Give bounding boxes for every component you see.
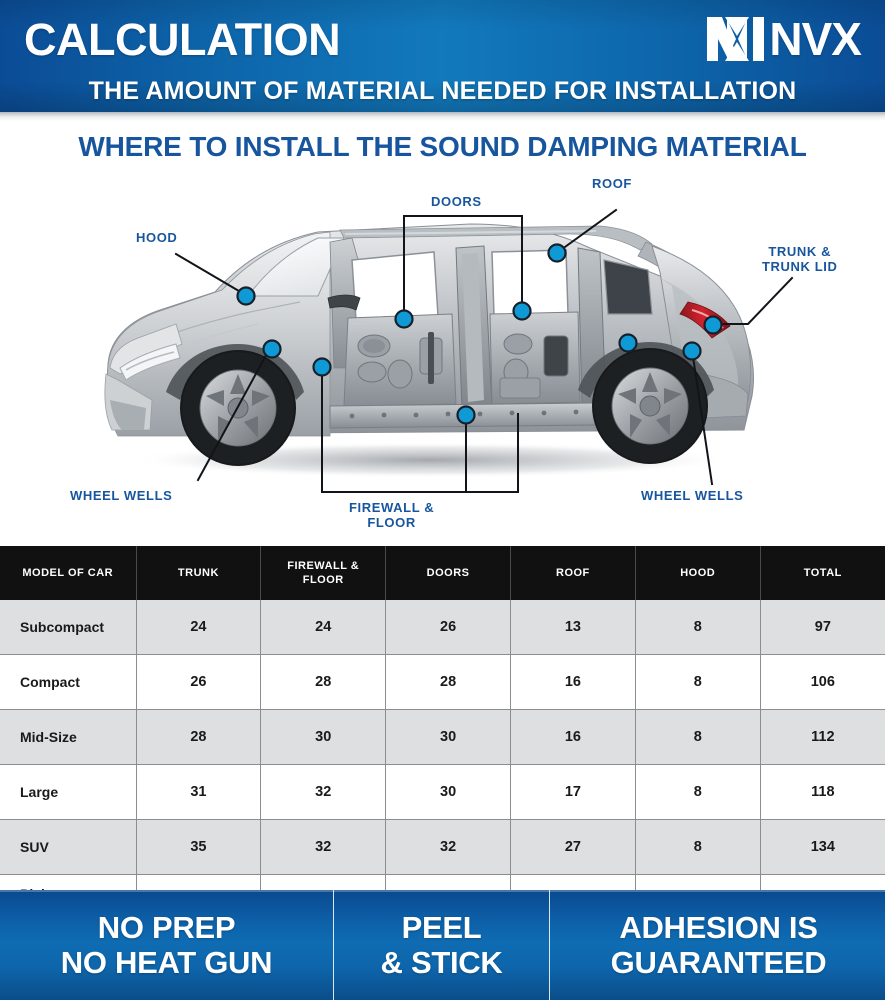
cell-model: Large bbox=[0, 765, 136, 820]
diagram-label-hood: HOOD bbox=[136, 230, 177, 245]
section-heading: WHERE TO INSTALL THE SOUND DAMPING MATER… bbox=[0, 132, 885, 162]
cell-hood: 8 bbox=[635, 820, 760, 875]
diagram-label-doors: DOORS bbox=[431, 194, 482, 209]
diagram-label-trunk-line1: TRUNK & bbox=[762, 244, 837, 259]
diagram-label-firewall-line1: FIREWALL & bbox=[349, 500, 434, 515]
table-row: SUV 35 32 32 27 8 134 bbox=[0, 820, 885, 875]
cell-hood: 8 bbox=[635, 655, 760, 710]
cell-total: 97 bbox=[760, 600, 885, 655]
footer-peel-line2: & STICK bbox=[381, 945, 503, 980]
cell-doors: 30 bbox=[386, 710, 511, 765]
cell-model: Compact bbox=[0, 655, 136, 710]
diagram-label-trunk: TRUNK & TRUNK LID bbox=[762, 244, 837, 274]
cell-doors: 28 bbox=[386, 655, 511, 710]
diagram-label-wheel-wells-rear: WHEEL WELLS bbox=[641, 488, 743, 503]
table-row: Compact 26 28 28 16 8 106 bbox=[0, 655, 885, 710]
cell-doors: 30 bbox=[386, 765, 511, 820]
th-firewall-line1: FIREWALL & bbox=[263, 559, 383, 573]
vehicle-illustration bbox=[0, 168, 885, 543]
footer-top-divider bbox=[0, 890, 885, 892]
calculation-table: MODEL OF CAR TRUNK FIREWALL & FLOOR DOOR… bbox=[0, 546, 885, 929]
footer-panel-adhesion: ADHESION IS GUARANTEED bbox=[550, 890, 885, 1000]
brand-logo: NVX bbox=[705, 13, 861, 65]
th-total: TOTAL bbox=[760, 546, 885, 600]
diagram-label-roof: ROOF bbox=[592, 176, 632, 191]
cell-firewall-floor: 30 bbox=[261, 710, 386, 765]
footer-benefits: NO PREP NO HEAT GUN PEEL & STICK ADHESIO… bbox=[0, 890, 885, 1000]
cell-doors: 26 bbox=[386, 600, 511, 655]
th-hood: HOOD bbox=[635, 546, 760, 600]
footer-panel-peel-stick: PEEL & STICK bbox=[334, 890, 549, 1000]
cell-roof: 16 bbox=[510, 710, 635, 765]
cell-firewall-floor: 32 bbox=[261, 820, 386, 875]
header-banner: CALCULATION NVX THE AMOUNT OF MATERIAL N… bbox=[0, 0, 885, 112]
cell-trunk: 26 bbox=[136, 655, 261, 710]
th-firewall-line2: FLOOR bbox=[263, 573, 383, 587]
diagram-label-trunk-line2: TRUNK LID bbox=[762, 259, 837, 274]
cell-roof: 17 bbox=[510, 765, 635, 820]
footer-no-prep-line2: NO HEAT GUN bbox=[61, 945, 272, 980]
cell-doors: 32 bbox=[386, 820, 511, 875]
table-row: Mid-Size 28 30 30 16 8 112 bbox=[0, 710, 885, 765]
cell-total: 106 bbox=[760, 655, 885, 710]
footer-peel-line1: PEEL bbox=[381, 910, 503, 945]
th-firewall-floor: FIREWALL & FLOOR bbox=[261, 546, 386, 600]
cell-model: Subcompact bbox=[0, 600, 136, 655]
table-row: Large 31 32 30 17 8 118 bbox=[0, 765, 885, 820]
cell-trunk: 24 bbox=[136, 600, 261, 655]
cell-hood: 8 bbox=[635, 600, 760, 655]
cell-roof: 27 bbox=[510, 820, 635, 875]
diagram-label-firewall-line2: FLOOR bbox=[349, 515, 434, 530]
header-shadow bbox=[0, 112, 885, 121]
th-roof: ROOF bbox=[510, 546, 635, 600]
table-header-row: MODEL OF CAR TRUNK FIREWALL & FLOOR DOOR… bbox=[0, 546, 885, 600]
rear-wheel bbox=[592, 348, 708, 464]
diagram-label-firewall-floor: FIREWALL & FLOOR bbox=[349, 500, 434, 530]
cell-hood: 8 bbox=[635, 710, 760, 765]
th-doors: DOORS bbox=[386, 546, 511, 600]
diagram-label-wheel-wells-front: WHEEL WELLS bbox=[70, 488, 172, 503]
cell-trunk: 28 bbox=[136, 710, 261, 765]
brand-logo-text: NVX bbox=[769, 16, 861, 62]
calculation-table-wrap: MODEL OF CAR TRUNK FIREWALL & FLOOR DOOR… bbox=[0, 546, 885, 886]
cell-model: SUV bbox=[0, 820, 136, 875]
footer-panel-no-prep: NO PREP NO HEAT GUN bbox=[0, 890, 333, 1000]
infographic-page: CALCULATION NVX THE AMOUNT OF MATERIAL N… bbox=[0, 0, 885, 1000]
nvx-bowtie-logo-icon bbox=[705, 15, 767, 63]
page-title: CALCULATION bbox=[24, 16, 340, 63]
cell-total: 118 bbox=[760, 765, 885, 820]
th-trunk: TRUNK bbox=[136, 546, 261, 600]
cell-roof: 16 bbox=[510, 655, 635, 710]
footer-no-prep-line1: NO PREP bbox=[61, 910, 272, 945]
cell-model: Mid-Size bbox=[0, 710, 136, 765]
cell-firewall-floor: 32 bbox=[261, 765, 386, 820]
vehicle-diagram: HOOD DOORS ROOF TRUNK & TRUNK LID WHEEL … bbox=[0, 168, 885, 543]
footer-adhesion-line1: ADHESION IS bbox=[611, 910, 827, 945]
page-subtitle: THE AMOUNT OF MATERIAL NEEDED FOR INSTAL… bbox=[0, 78, 885, 105]
footer-adhesion-line2: GUARANTEED bbox=[611, 945, 827, 980]
cell-hood: 8 bbox=[635, 765, 760, 820]
cell-total: 112 bbox=[760, 710, 885, 765]
cell-roof: 13 bbox=[510, 600, 635, 655]
cell-firewall-floor: 28 bbox=[261, 655, 386, 710]
cell-trunk: 35 bbox=[136, 820, 261, 875]
cell-trunk: 31 bbox=[136, 765, 261, 820]
table-row: Subcompact 24 24 26 13 8 97 bbox=[0, 600, 885, 655]
cell-firewall-floor: 24 bbox=[261, 600, 386, 655]
cell-total: 134 bbox=[760, 820, 885, 875]
header-top-row: CALCULATION NVX bbox=[0, 8, 885, 70]
th-model-of-car: MODEL OF CAR bbox=[0, 546, 136, 600]
